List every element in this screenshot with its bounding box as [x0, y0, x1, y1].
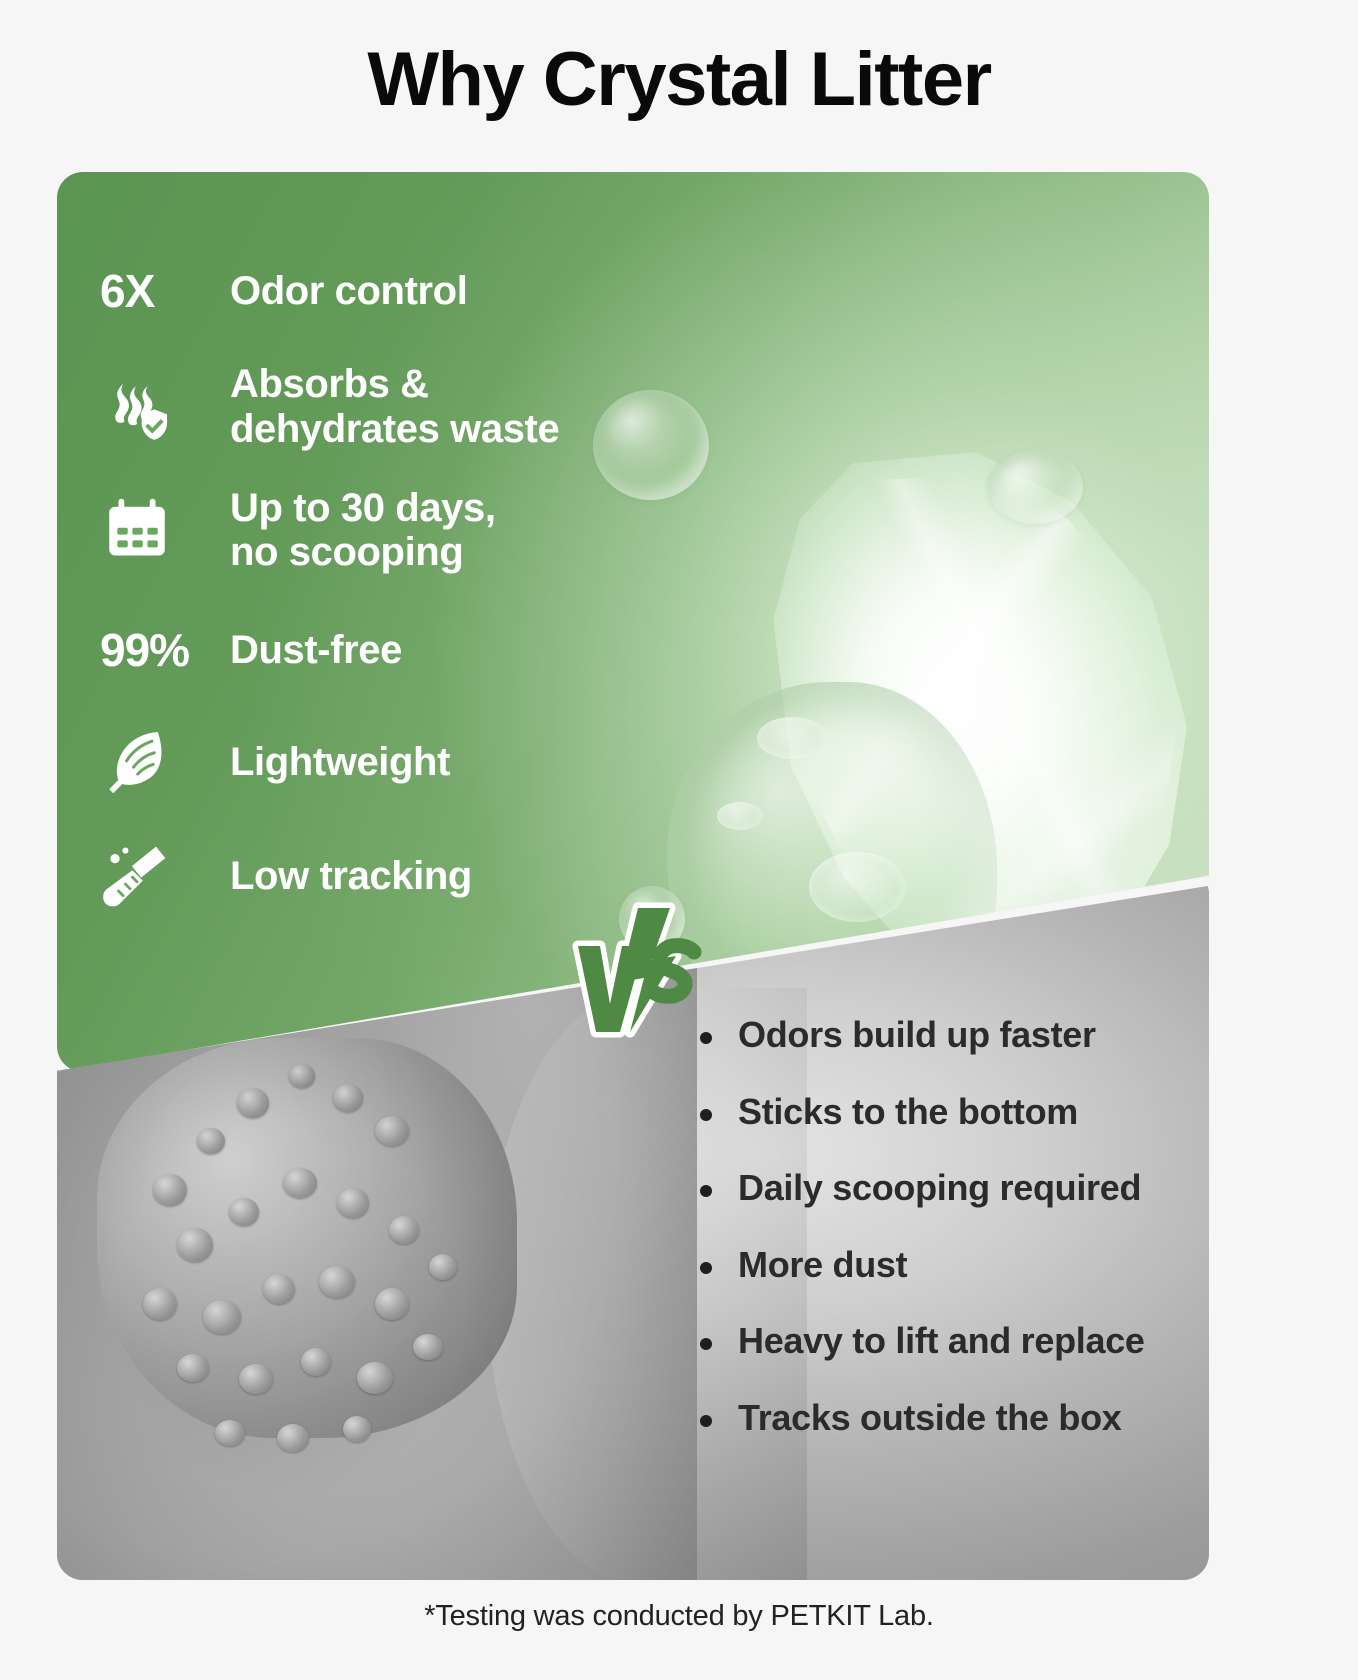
- feather-icon: [100, 725, 230, 799]
- list-item: Sticks to the bottom: [700, 1092, 1220, 1132]
- feature-row-absorbs: Absorbs & dehydrates waste: [100, 362, 620, 452]
- broom-icon: [100, 839, 230, 913]
- feature-label-low-tracking: Low tracking: [230, 854, 472, 899]
- calendar-icon: [100, 493, 230, 567]
- infographic-page: Why Crystal Litter 6X Odor control: [0, 0, 1358, 1680]
- list-item: Heavy to lift and replace: [700, 1321, 1220, 1361]
- gel-bead-hole: [809, 852, 905, 922]
- feature-row-dust-free: 99% Dust-free: [100, 607, 620, 693]
- con-label: Odors build up faster: [738, 1015, 1096, 1055]
- bullet-dot-icon: [700, 1109, 712, 1121]
- gel-bead-hole: [757, 717, 827, 759]
- page-title: Why Crystal Litter: [0, 40, 1358, 120]
- feature-row-low-tracking: Low tracking: [100, 833, 620, 919]
- feature-label-absorbs: Absorbs & dehydrates waste: [230, 362, 559, 452]
- feature-badge-6x: 6X: [100, 264, 230, 318]
- feature-row-odor-control: 6X Odor control: [100, 248, 620, 334]
- list-item: More dust: [700, 1245, 1220, 1285]
- feature-label-30-days: Up to 30 days, no scooping: [230, 486, 496, 576]
- con-label: Sticks to the bottom: [738, 1092, 1078, 1132]
- crystal-feature-list: 6X Odor control Absorbs & dehydrates was…: [100, 248, 620, 929]
- bullet-dot-icon: [700, 1262, 712, 1274]
- vs-badge: [566, 900, 716, 1040]
- bullet-dot-icon: [700, 1415, 712, 1427]
- con-label: Tracks outside the box: [738, 1398, 1122, 1438]
- list-item: Daily scooping required: [700, 1168, 1220, 1208]
- footnote: *Testing was conducted by PETKIT Lab.: [0, 1600, 1358, 1633]
- bubble-decor: [987, 450, 1083, 524]
- odor-shield-icon: [100, 370, 230, 444]
- con-label: Daily scooping required: [738, 1168, 1141, 1208]
- list-item: Tracks outside the box: [700, 1398, 1220, 1438]
- feature-row-lightweight: Lightweight: [100, 719, 620, 805]
- con-label: More dust: [738, 1245, 907, 1285]
- feature-label-lightweight: Lightweight: [230, 740, 450, 785]
- bullet-dot-icon: [700, 1338, 712, 1350]
- bullet-dot-icon: [700, 1185, 712, 1197]
- clumping-cons-list: Odors build up faster Sticks to the bott…: [700, 1015, 1220, 1475]
- gel-bead-hole: [717, 802, 763, 830]
- list-item: Odors build up faster: [700, 1015, 1220, 1055]
- feature-badge-99-percent: 99%: [100, 623, 230, 677]
- feature-label-dust-free: Dust-free: [230, 628, 402, 673]
- feature-label-odor-control: Odor control: [230, 269, 467, 314]
- feature-row-30-days: Up to 30 days, no scooping: [100, 486, 620, 576]
- con-label: Heavy to lift and replace: [738, 1321, 1145, 1361]
